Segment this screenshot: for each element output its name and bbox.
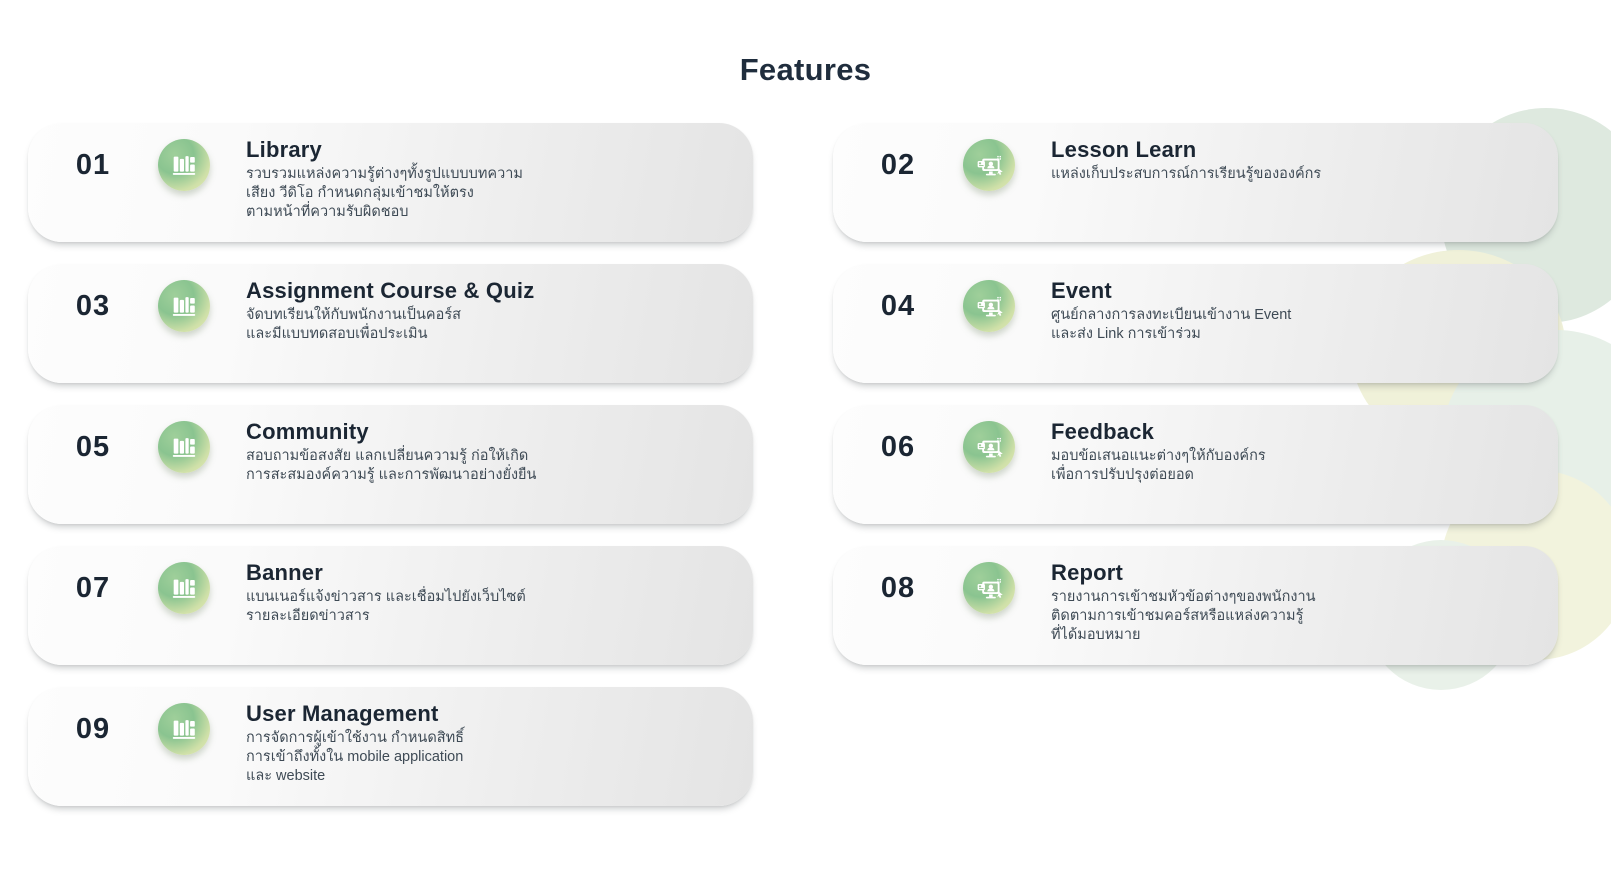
feature-title: Assignment Course & Quiz (246, 278, 737, 304)
feature-text-block: Bannerแบนเนอร์แจ้งข่าวสาร และเชื่อมไปยัง… (210, 546, 753, 626)
feature-title: Library (246, 137, 737, 163)
features-column-left: 01Libraryรวบรวมแหล่งความรู้ต่างๆทั้งรูปแ… (28, 123, 753, 828)
feature-title: Event (1051, 278, 1542, 304)
feature-text-block: User Managementการจัดการผู้เข้าใช้งาน กำ… (210, 687, 753, 786)
feature-number: 09 (28, 687, 158, 746)
feature-number: 02 (833, 123, 963, 182)
feature-card-04[interactable]: 04Eventศูนย์กลางการลงทะเบียนเข้างาน Even… (833, 264, 1558, 383)
feature-title: Community (246, 419, 737, 445)
library-books-icon (158, 280, 210, 332)
feature-title: Feedback (1051, 419, 1542, 445)
feature-description: รายงานการเข้าชมหัวข้อต่างๆของพนักงาน ติด… (1051, 588, 1542, 645)
feature-text-block: Reportรายงานการเข้าชมหัวข้อต่างๆของพนักง… (1015, 546, 1558, 645)
feature-number: 04 (833, 264, 963, 323)
feature-title: Lesson Learn (1051, 137, 1542, 163)
feature-number: 07 (28, 546, 158, 605)
feature-description: แหล่งเก็บประสบการณ์การเรียนรู้ขององค์กร (1051, 165, 1542, 184)
feature-description: รวบรวมแหล่งความรู้ต่างๆทั้งรูปแบบบทความ … (246, 165, 737, 222)
feature-number: 08 (833, 546, 963, 605)
feature-text-block: Assignment Course & Quizจัดบทเรียนให้กับ… (210, 264, 753, 344)
features-column-right: 02Lesson Learnแหล่งเก็บประสบการณ์การเรีย… (833, 123, 1558, 687)
feature-title: Report (1051, 560, 1542, 586)
feature-number: 06 (833, 405, 963, 464)
feature-card-06[interactable]: 06Feedbackมอบข้อเสนอแนะต่างๆให้กับองค์กร… (833, 405, 1558, 524)
feature-number: 03 (28, 264, 158, 323)
feature-card-02[interactable]: 02Lesson Learnแหล่งเก็บประสบการณ์การเรีย… (833, 123, 1558, 242)
feature-text-block: Feedbackมอบข้อเสนอแนะต่างๆให้กับองค์กร เ… (1015, 405, 1558, 485)
e-learning-monitor-icon (963, 280, 1015, 332)
feature-description: จัดบทเรียนให้กับพนักงานเป็นคอร์ส และมีแบ… (246, 306, 737, 344)
library-books-icon (158, 139, 210, 191)
feature-text-block: Libraryรวบรวมแหล่งความรู้ต่างๆทั้งรูปแบบ… (210, 123, 753, 222)
page-title: Features (0, 52, 1611, 88)
feature-description: สอบถามข้อสงสัย แลกเปลี่ยนความรู้ ก่อให้เ… (246, 447, 737, 485)
feature-description: การจัดการผู้เข้าใช้งาน กำหนดสิทธิ์ การเข… (246, 729, 737, 786)
feature-description: มอบข้อเสนอแนะต่างๆให้กับองค์กร เพื่อการป… (1051, 447, 1542, 485)
feature-number: 05 (28, 405, 158, 464)
feature-card-09[interactable]: 09User Managementการจัดการผู้เข้าใช้งาน … (28, 687, 753, 806)
feature-card-05[interactable]: 05Communityสอบถามข้อสงสัย แลกเปลี่ยนความ… (28, 405, 753, 524)
e-learning-monitor-icon (963, 421, 1015, 473)
feature-text-block: Eventศูนย์กลางการลงทะเบียนเข้างาน Event … (1015, 264, 1558, 344)
library-books-icon (158, 562, 210, 614)
library-books-icon (158, 703, 210, 755)
feature-text-block: Lesson Learnแหล่งเก็บประสบการณ์การเรียนร… (1015, 123, 1558, 184)
feature-card-01[interactable]: 01Libraryรวบรวมแหล่งความรู้ต่างๆทั้งรูปแ… (28, 123, 753, 242)
feature-description: ศูนย์กลางการลงทะเบียนเข้างาน Event และส่… (1051, 306, 1542, 344)
feature-text-block: Communityสอบถามข้อสงสัย แลกเปลี่ยนความรู… (210, 405, 753, 485)
feature-title: Banner (246, 560, 737, 586)
library-books-icon (158, 421, 210, 473)
feature-title: User Management (246, 701, 737, 727)
feature-card-03[interactable]: 03Assignment Course & Quizจัดบทเรียนให้ก… (28, 264, 753, 383)
feature-description: แบนเนอร์แจ้งข่าวสาร และเชื่อมไปยังเว็บไซ… (246, 588, 737, 626)
e-learning-monitor-icon (963, 562, 1015, 614)
feature-card-07[interactable]: 07Bannerแบนเนอร์แจ้งข่าวสาร และเชื่อมไปย… (28, 546, 753, 665)
e-learning-monitor-icon (963, 139, 1015, 191)
feature-card-08[interactable]: 08Reportรายงานการเข้าชมหัวข้อต่างๆของพนั… (833, 546, 1558, 665)
feature-number: 01 (28, 123, 158, 182)
